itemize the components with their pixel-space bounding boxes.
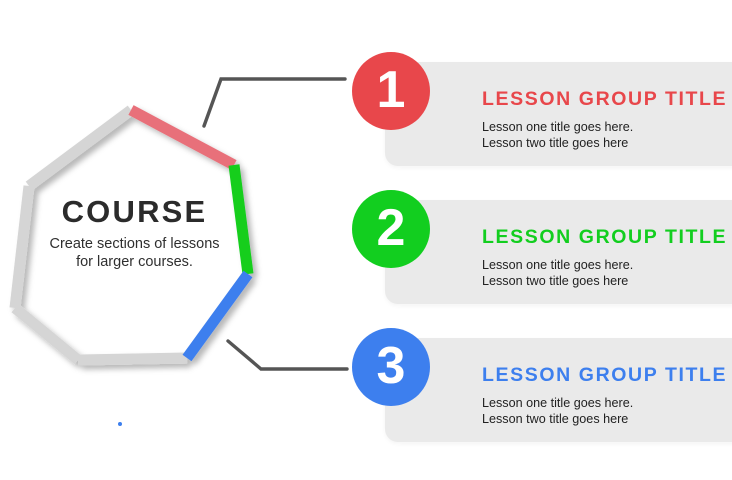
infographic-canvas: COURSE Create sections of lessons for la… — [0, 0, 732, 480]
stray-dot-artifact — [118, 422, 122, 426]
lesson-group-panel-2[interactable]: LESSON GROUP TITLE Lesson one title goes… — [385, 200, 732, 304]
lesson-group-title-2: LESSON GROUP TITLE — [482, 228, 732, 248]
heptagon-segment-red — [131, 110, 234, 165]
heptagon-segment-gray-upper-left — [29, 110, 131, 186]
step-number-2: 2 — [377, 202, 406, 254]
heptagon-svg — [0, 88, 300, 388]
step-circle-1[interactable]: 1 — [352, 52, 430, 130]
lesson-one-1: Lesson one title goes here. — [482, 119, 732, 136]
course-heptagon: COURSE Create sections of lessons for la… — [0, 88, 300, 388]
lesson-one-2: Lesson one title goes here. — [482, 257, 732, 274]
lesson-group-content-1: LESSON GROUP TITLE Lesson one title goes… — [482, 90, 732, 152]
step-circle-3[interactable]: 3 — [352, 328, 430, 406]
lesson-group-content-2: LESSON GROUP TITLE Lesson one title goes… — [482, 228, 732, 290]
heptagon-outline-group — [15, 110, 248, 360]
lesson-two-3: Lesson two title goes here — [482, 411, 732, 428]
lesson-two-2: Lesson two title goes here — [482, 273, 732, 290]
lesson-group-row-2[interactable]: LESSON GROUP TITLE Lesson one title goes… — [352, 190, 732, 310]
step-number-3: 3 — [377, 340, 406, 392]
heptagon-segment-green — [234, 165, 248, 274]
heptagon-segment-gray-lower-left — [15, 308, 78, 360]
lesson-two-1: Lesson two title goes here — [482, 135, 732, 152]
step-circle-2[interactable]: 2 — [352, 190, 430, 268]
heptagon-segment-gray-left — [15, 186, 29, 308]
step-number-1: 1 — [377, 64, 406, 116]
heptagon-segment-gray-bottom — [78, 358, 187, 360]
heptagon-segment-blue — [187, 274, 248, 358]
lesson-group-panel-3[interactable]: LESSON GROUP TITLE Lesson one title goes… — [385, 338, 732, 442]
lesson-group-row-1[interactable]: LESSON GROUP TITLE Lesson one title goes… — [352, 52, 732, 172]
lesson-group-row-3[interactable]: LESSON GROUP TITLE Lesson one title goes… — [352, 328, 732, 448]
lesson-group-title-3: LESSON GROUP TITLE — [482, 366, 732, 386]
lesson-group-panel-1[interactable]: LESSON GROUP TITLE Lesson one title goes… — [385, 62, 732, 166]
lesson-group-title-1: LESSON GROUP TITLE — [482, 90, 732, 110]
lesson-group-content-3: LESSON GROUP TITLE Lesson one title goes… — [482, 366, 732, 428]
lesson-one-3: Lesson one title goes here. — [482, 395, 732, 412]
